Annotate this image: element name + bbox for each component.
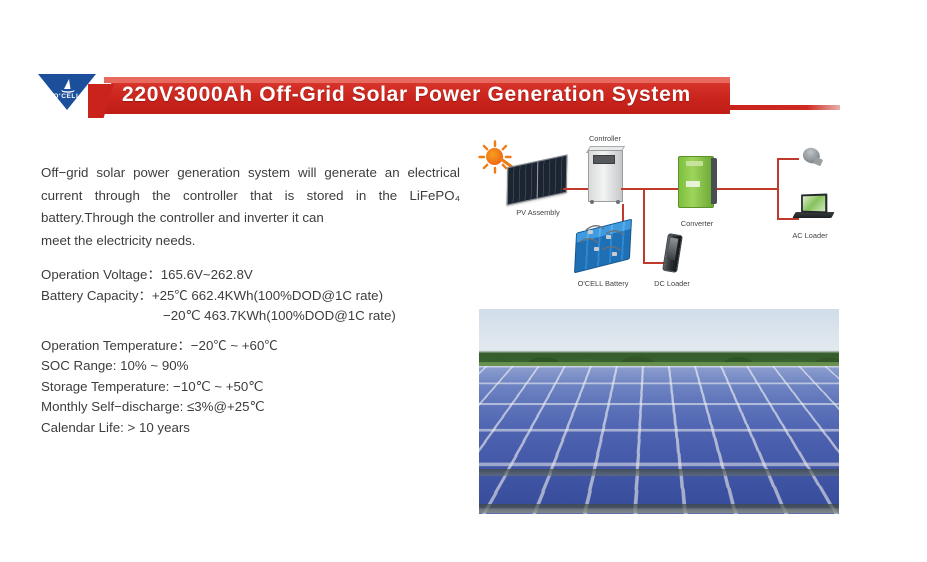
intro-paragraph: Off−grid solar power generation system w… <box>41 162 460 252</box>
battery-cable-icon <box>570 220 636 268</box>
diagram-label-pv: PV Assembly <box>492 208 584 217</box>
wire-pv-to-controller <box>563 188 589 190</box>
phone-screen-icon <box>667 237 678 260</box>
dc-loader-phone-icon <box>662 233 683 273</box>
solar-farm-photo <box>479 309 839 514</box>
spec-row-operation-voltage: Operation Voltage：165.6V~262.8V <box>41 265 471 286</box>
light-bulb-base-icon <box>813 157 823 167</box>
diagram-label-converter: Converter <box>664 219 730 228</box>
converter-logo-icon <box>686 161 703 166</box>
intro-paragraph-last-line: meet the electricity needs. <box>41 230 460 253</box>
diagram-label-dc-loader: DC Loader <box>634 279 710 288</box>
spec-row-soc-range: SOC Range: 10% ~ 90% <box>41 356 471 377</box>
spec-row-battery-capacity-low-temp: −20℃ 463.7KWh(100%DOD@1C rate) <box>41 306 471 327</box>
diagram-label-controller: Controller <box>577 134 633 143</box>
wire-converter-to-ac-bus <box>717 188 779 190</box>
spec-row-storage-temperature: Storage Temperature: −10℃ ~ +50℃ <box>41 377 471 398</box>
page-title: 220V3000Ah Off-Grid Solar Power Generati… <box>122 83 691 107</box>
specification-list: Operation Voltage：165.6V~262.8V Battery … <box>41 265 471 438</box>
header-banner: 220V3000Ah Off-Grid Solar Power Generati… <box>0 72 927 124</box>
banner-underline-rule <box>730 105 840 110</box>
spec-row-battery-capacity: Battery Capacity：+25℃ 662.4KWh(100%DOD@1… <box>41 286 471 307</box>
spec-spacer <box>41 327 471 336</box>
diagram-label-ac-loader: AC Loader <box>775 231 845 240</box>
laptop-screen-icon <box>803 196 825 212</box>
converter-display-icon <box>686 181 700 187</box>
wire-bus-vertical <box>643 188 645 264</box>
system-diagram: PV Assembly Controller O'CELL Battery Co… <box>478 134 843 304</box>
spec-row-monthly-self-discharge: Monthly Self−discharge: ≤3%@+25℃ <box>41 397 471 418</box>
controller-caster-icon <box>590 200 594 204</box>
wire-ac-bus-to-laptop <box>777 218 799 220</box>
sailboat-icon <box>60 79 76 93</box>
logo-wordmark: O'CELL <box>38 93 96 100</box>
wire-controller-to-converter <box>621 188 681 190</box>
laptop-icon <box>801 193 827 213</box>
spec-row-calendar-life: Calendar Life: > 10 years <box>41 418 471 439</box>
converter-side-panel-icon <box>711 158 717 204</box>
controller-display-icon <box>593 155 615 164</box>
ocell-logo: O'CELL <box>38 74 96 114</box>
photo-vignette <box>479 309 839 514</box>
intro-paragraph-text: Off−grid solar power generation system w… <box>41 165 460 225</box>
spec-row-operation-temperature: Operation Temperature：−20℃ ~ +60℃ <box>41 336 471 357</box>
wire-ac-bus-to-bulb <box>777 158 799 160</box>
wire-ac-bus-vertical <box>777 158 779 220</box>
controller-caster-icon <box>616 200 620 204</box>
